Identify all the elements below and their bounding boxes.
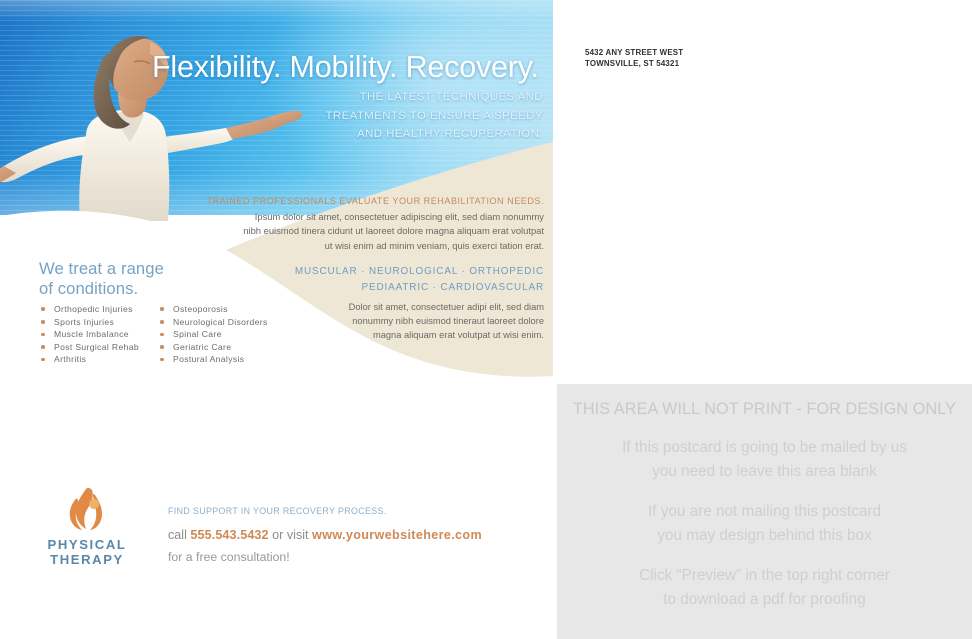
bullet-dot-icon: [160, 320, 164, 324]
conditions-lists: Orthopedic Injuries Sports Injuries Musc…: [41, 303, 268, 366]
specialties-list: MUSCULAR · NEUROLOGICAL · ORTHOPEDIC PED…: [290, 264, 544, 295]
or-visit-label: or visit: [272, 528, 308, 542]
physical-therapy-logo: PHYSICAL THERAPY: [43, 487, 131, 559]
band-eyebrow-text: TRAINED PROFESSIONALS EVALUATE YOUR REHA…: [196, 196, 544, 206]
list-item-label: Osteoporosis: [173, 304, 228, 314]
conditions-heading-line-1: We treat a range: [39, 259, 259, 279]
list-item-label: Postural Analysis: [173, 354, 244, 364]
postcard-back-mail-panel[interactable]: 5432 ANY STREET WEST TOWNSVILLE, ST 5432…: [553, 0, 972, 639]
bullet-dot-icon: [41, 320, 45, 324]
bullet-dot-icon: [41, 345, 45, 349]
consultation-line: for a free consultation!: [168, 550, 290, 564]
logo-word-line-1: PHYSICAL: [43, 537, 131, 552]
band-lead-paragraph: Ipsum dolor sit amet, consectetuer adipi…: [238, 210, 544, 253]
list-item: Sports Injuries: [41, 316, 139, 329]
list-item: Orthopedic Injuries: [41, 303, 139, 316]
phone-number[interactable]: 555.543.5432: [190, 528, 268, 542]
hero-headline: Flexibility. Mobility. Recovery.: [152, 50, 547, 85]
list-item-label: Neurological Disorders: [173, 317, 268, 327]
list-item-label: Orthopedic Injuries: [54, 304, 133, 314]
bullet-dot-icon: [160, 358, 164, 362]
bullet-dot-icon: [160, 307, 164, 311]
contact-line: call 555.543.5432 or visit www.yourwebsi…: [168, 528, 482, 542]
list-item-label: Sports Injuries: [54, 317, 114, 327]
no-print-block-3: Click “Preview” in the top right corner …: [557, 564, 972, 611]
list-item: Geriatric Care: [160, 341, 268, 354]
hero-sub-line-3: AND HEALTHY RECUPERATION.: [275, 125, 543, 144]
no-print-block-2-line-1: If you are not mailing this postcard: [557, 500, 972, 524]
no-print-block-2-line-2: you may design behind this box: [557, 524, 972, 548]
call-label: call: [168, 528, 187, 542]
website-url[interactable]: www.yourwebsitehere.com: [312, 528, 482, 542]
no-print-block-1: If this postcard is going to be mailed b…: [557, 436, 972, 483]
postcard-front-artwork[interactable]: Flexibility. Mobility. Recovery. THE LAT…: [0, 0, 553, 639]
return-address-block: 5432 ANY STREET WEST TOWNSVILLE, ST 5432…: [585, 47, 683, 69]
hero-sub-line-1: THE LATEST TECHNIQUES AND: [275, 88, 543, 107]
bullet-dot-icon: [160, 345, 164, 349]
list-item: Postural Analysis: [160, 353, 268, 366]
band-body-paragraph: Dolor sit amet, consectetuer adipi elit,…: [336, 300, 544, 343]
address-line-1: 5432 ANY STREET WEST: [585, 47, 683, 58]
postcard-designer-canvas: Flexibility. Mobility. Recovery. THE LAT…: [0, 0, 972, 639]
no-print-block-3-line-1: Click “Preview” in the top right corner: [557, 564, 972, 588]
list-item: Spinal Care: [160, 328, 268, 341]
list-item: Post Surgical Rehab: [41, 341, 139, 354]
list-item-label: Geriatric Care: [173, 342, 231, 352]
logo-wordmark: PHYSICAL THERAPY: [43, 537, 131, 568]
no-print-block-2: If you are not mailing this postcard you…: [557, 500, 972, 547]
hero-subheadline: THE LATEST TECHNIQUES AND TREATMENTS TO …: [275, 88, 543, 144]
specialties-line-1: MUSCULAR · NEUROLOGICAL · ORTHOPEDIC: [290, 264, 544, 280]
conditions-column-right: Osteoporosis Neurological Disorders Spin…: [160, 303, 268, 366]
list-item: Neurological Disorders: [160, 316, 268, 329]
list-item: Osteoporosis: [160, 303, 268, 316]
flame-figure-logo-icon: [61, 487, 113, 535]
specialties-line-2: PEDIAATRIC · CARDIOVASCULAR: [290, 280, 544, 296]
hero-sub-line-2: TREATMENTS TO ENSURE A SPEEDY: [275, 107, 543, 126]
find-support-tagline: FIND SUPPORT IN YOUR RECOVERY PROCESS.: [168, 506, 387, 516]
logo-word-line-2: THERAPY: [43, 552, 131, 567]
list-item-label: Spinal Care: [173, 329, 222, 339]
bullet-dot-icon: [41, 333, 45, 337]
no-print-area-box: THIS AREA WILL NOT PRINT - FOR DESIGN ON…: [557, 384, 972, 639]
no-print-block-1-line-2: you need to leave this area blank: [557, 460, 972, 484]
list-item-label: Arthritis: [54, 354, 86, 364]
no-print-block-1-line-1: If this postcard is going to be mailed b…: [557, 436, 972, 460]
bullet-dot-icon: [41, 307, 45, 311]
list-item-label: Muscle Imbalance: [54, 329, 129, 339]
bullet-dot-icon: [160, 333, 164, 337]
address-line-2: TOWNSVILLE, ST 54321: [585, 58, 683, 69]
list-item-label: Post Surgical Rehab: [54, 342, 139, 352]
list-item: Arthritis: [41, 353, 139, 366]
conditions-heading-line-2: of conditions.: [39, 279, 259, 299]
list-item: Muscle Imbalance: [41, 328, 139, 341]
bullet-dot-icon: [41, 358, 45, 362]
conditions-heading: We treat a range of conditions.: [39, 259, 259, 300]
no-print-block-3-line-2: to download a pdf for proofing: [557, 588, 972, 612]
conditions-column-left: Orthopedic Injuries Sports Injuries Musc…: [41, 303, 139, 366]
no-print-title: THIS AREA WILL NOT PRINT - FOR DESIGN ON…: [557, 400, 972, 419]
